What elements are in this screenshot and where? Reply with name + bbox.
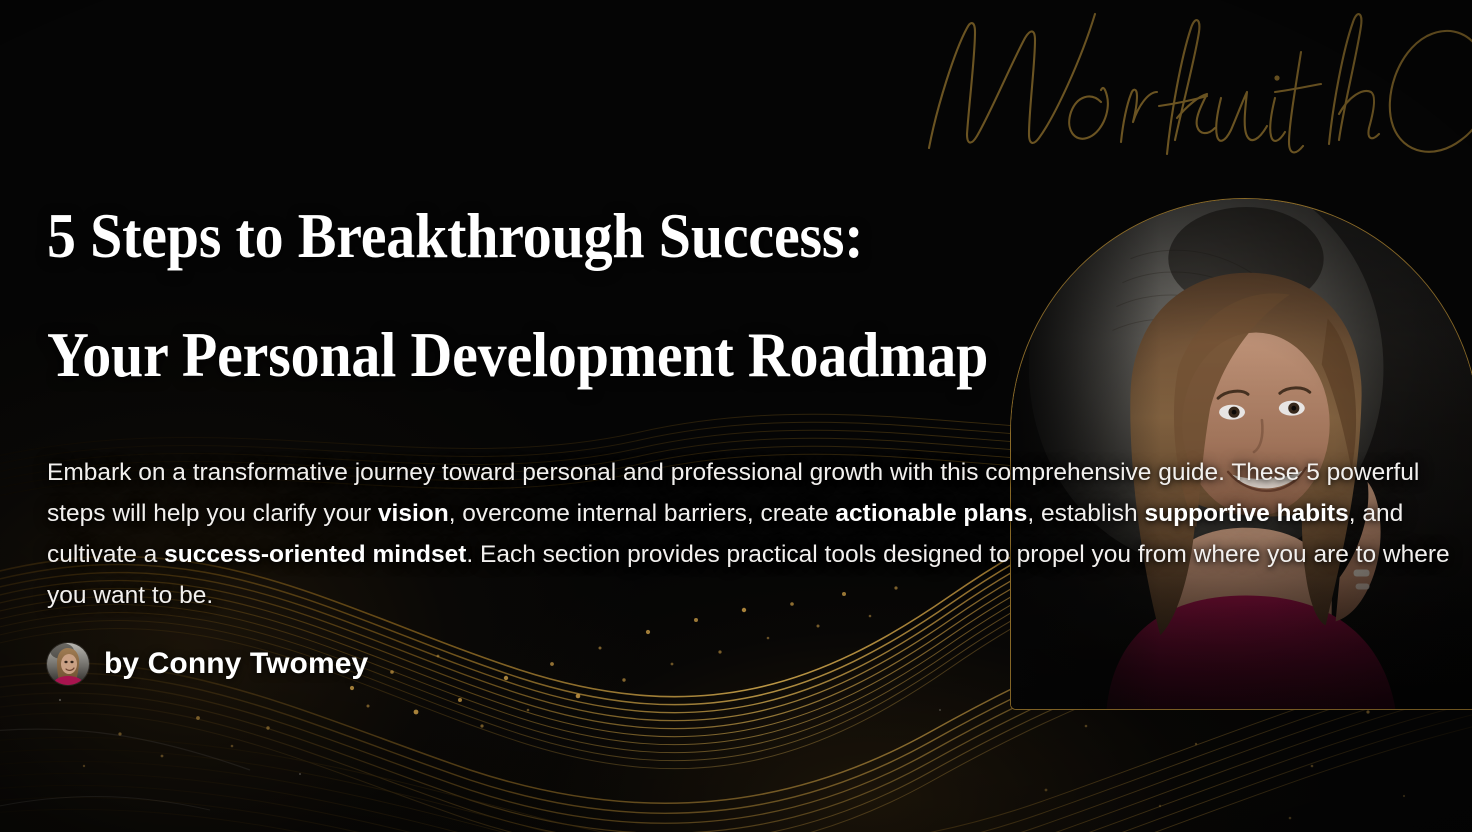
intro-paragraph: Embark on a transformative journey towar… [47,452,1455,616]
slide-content: 5 Steps to Breakthrough Success: Your Pe… [47,0,1457,832]
headline-line-1: 5 Steps to Breakthrough Success: [47,201,863,271]
emphasis-success-mindset: success-oriented mindset [164,541,466,568]
byline: by Conny Twomey [47,643,368,685]
page-title: 5 Steps to Breakthrough Success: Your Pe… [47,205,1298,387]
headline-line-2: Your Personal Development Roadmap [47,324,1298,387]
author-name: by Conny Twomey [104,647,368,681]
emphasis-vision: vision [378,500,449,527]
intro-segment-3: , establish [1027,500,1144,527]
intro-segment-2: , overcome internal barriers, create [449,500,836,527]
emphasis-actionable-plans: actionable plans [835,500,1027,527]
avatar [47,643,89,685]
presentation-slide: 5 Steps to Breakthrough Success: Your Pe… [0,0,1472,832]
emphasis-supportive-habits: supportive habits [1145,500,1349,527]
